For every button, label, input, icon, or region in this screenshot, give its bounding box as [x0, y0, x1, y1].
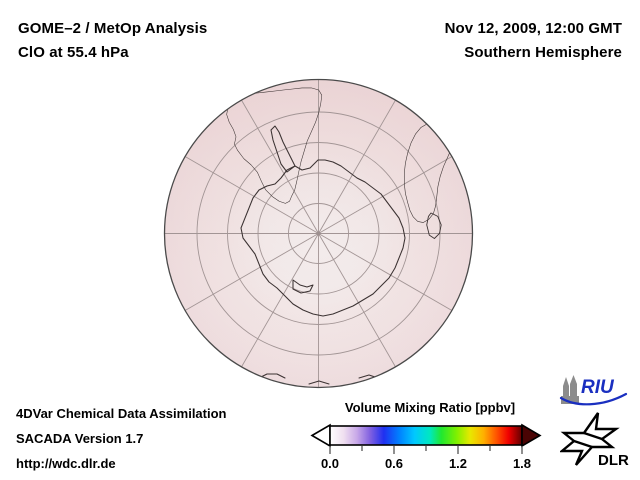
- riu-wordmark: RIU: [581, 377, 615, 398]
- header-left: GOME–2 / MetOp Analysis ClO at 55.4 hPa: [18, 17, 207, 65]
- coast-fragment-upper-left: [185, 119, 201, 123]
- south-pole-marker: [316, 231, 320, 235]
- dlr-wordmark: DLR: [598, 452, 629, 467]
- colorbar-under-arrow: [312, 425, 330, 446]
- method-label: 4DVar Chemical Data Assimilation: [16, 401, 227, 426]
- colorbar-tick-label-0: 0.0: [321, 456, 339, 471]
- hemisphere-label: Southern Hemisphere: [445, 41, 622, 65]
- footer-text-block: 4DVar Chemical Data Assimilation SACADA …: [16, 401, 227, 476]
- version-label: SACADA Version 1.7: [16, 426, 227, 451]
- datetime-label: Nov 12, 2009, 12:00 GMT: [445, 17, 622, 41]
- dlr-logo: DLR: [560, 411, 634, 472]
- colorbar: Volume Mixing Ratio [ppbv]: [310, 400, 546, 478]
- header-right: Nov 12, 2009, 12:00 GMT Southern Hemisph…: [445, 17, 622, 65]
- colorbar-over-arrow: [522, 425, 540, 446]
- riu-logo: RIU: [558, 374, 630, 411]
- instrument-title: GOME–2 / MetOp Analysis: [18, 17, 207, 41]
- globe-map: [163, 78, 474, 389]
- colorbar-ticks: [330, 446, 522, 454]
- species-level-title: ClO at 55.4 hPa: [18, 41, 207, 65]
- colorbar-tick-label-3: 1.8: [513, 456, 531, 471]
- colorbar-gradient: [330, 426, 522, 445]
- colorbar-title: Volume Mixing Ratio [ppbv]: [314, 400, 546, 416]
- coast-fragment-upper-right: [421, 92, 451, 104]
- colorbar-tick-label-2: 1.2: [449, 456, 467, 471]
- colorbar-tick-label-1: 0.6: [385, 456, 403, 471]
- website-url[interactable]: http://wdc.dlr.de: [16, 451, 227, 476]
- coast-fragment-upper-left-2: [203, 110, 219, 114]
